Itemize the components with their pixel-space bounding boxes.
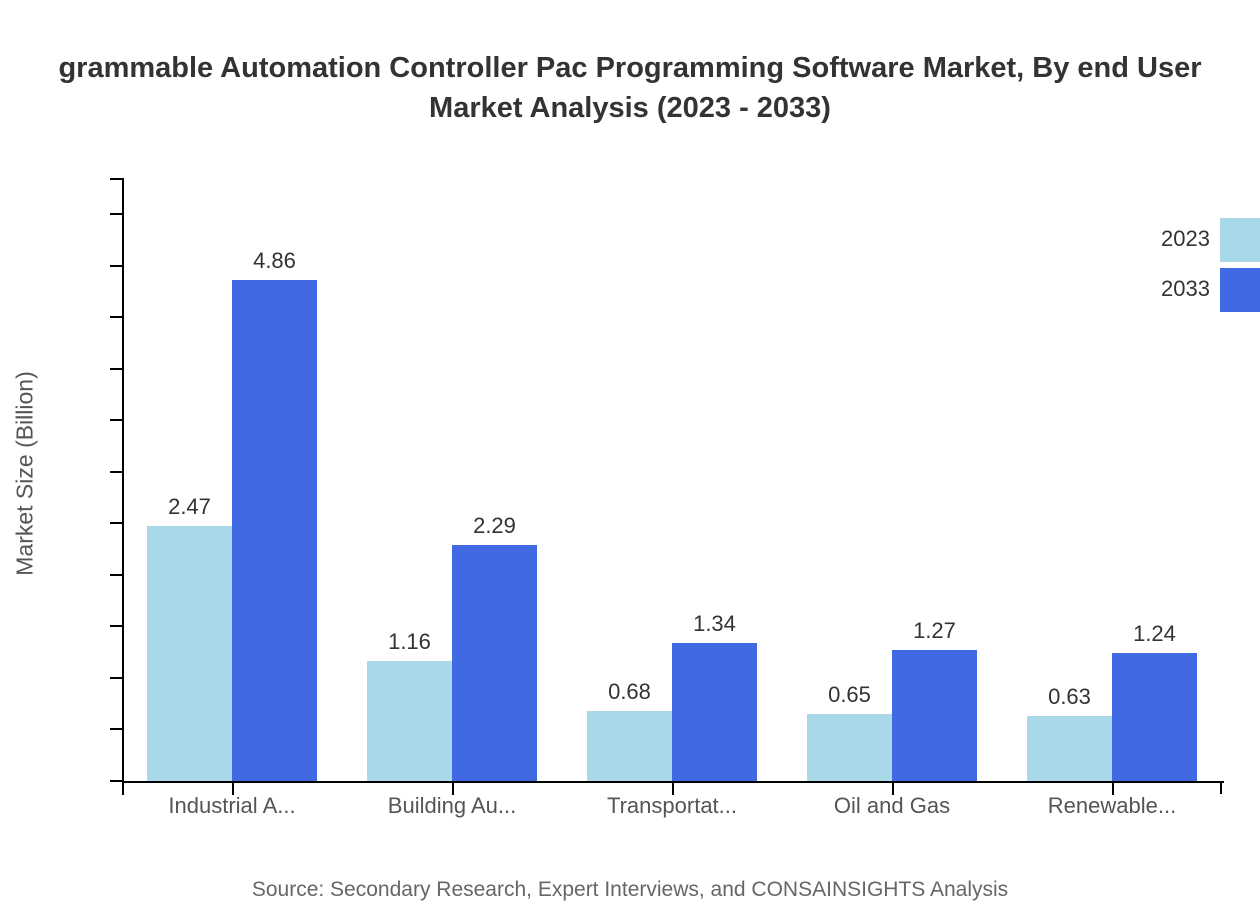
chart-title-line-1: grammable Automation Controller Pac Prog…: [58, 52, 1201, 84]
bar-2023-0[interactable]: [147, 526, 232, 781]
legend-label: 2023: [1161, 226, 1210, 252]
bar-2023-2[interactable]: [587, 711, 672, 781]
bar-value-label: 1.34: [672, 611, 757, 637]
chart-title: grammable Automation Controller Pac Prog…: [0, 48, 1260, 128]
bar-value-label: 4.86: [232, 248, 317, 274]
chart-title-line-2: Market Analysis (2023 - 2033): [0, 88, 1260, 128]
bar-value-label: 2.29: [452, 513, 537, 539]
bar-value-label: 0.68: [587, 679, 672, 705]
y-tick-mark: [110, 213, 122, 215]
bar-value-label: 1.24: [1112, 621, 1197, 647]
y-axis-title: Market Size (Billion): [12, 244, 39, 704]
legend-item[interactable]: 2023: [1135, 218, 1260, 268]
x-axis-category-label: Renewable...: [1002, 793, 1222, 819]
y-tick-mark: [110, 522, 122, 524]
x-axis-category-label: Industrial A...: [122, 793, 342, 819]
y-tick-mark: [110, 728, 122, 730]
legend-item[interactable]: 2033: [1135, 268, 1260, 318]
y-tick-mark: [110, 471, 122, 473]
bar-value-label: 1.16: [367, 629, 452, 655]
bar-value-label: 0.65: [807, 682, 892, 708]
y-tick-mark: [110, 265, 122, 267]
legend-swatch-2033: [1220, 268, 1260, 312]
y-tick-mark: [110, 316, 122, 318]
y-tick-mark: [110, 677, 122, 679]
x-axis-category-label: Transportat...: [562, 793, 782, 819]
bar-value-label: 1.27: [892, 618, 977, 644]
bar-value-label: 0.63: [1027, 684, 1112, 710]
bar-2033-1[interactable]: [452, 545, 537, 781]
y-tick-mark: [110, 780, 122, 782]
bar-2023-4[interactable]: [1027, 716, 1112, 781]
legend-swatch-2023: [1220, 218, 1260, 262]
bar-2023-1[interactable]: [367, 661, 452, 781]
y-tick-mark: [110, 419, 122, 421]
bar-2033-4[interactable]: [1112, 653, 1197, 781]
y-tick-mark: [110, 368, 122, 370]
y-tick-mark: [110, 625, 122, 627]
bar-2033-2[interactable]: [672, 643, 757, 781]
source-note: Source: Secondary Research, Expert Inter…: [0, 878, 1260, 902]
bar-2033-0[interactable]: [232, 280, 317, 781]
x-axis-category-label: Oil and Gas: [782, 793, 1002, 819]
x-axis-category-label: Building Au...: [342, 793, 562, 819]
legend: 20232033: [1135, 218, 1260, 318]
y-tick-mark: [110, 574, 122, 576]
bar-value-label: 2.47: [147, 494, 232, 520]
chart-container: grammable Automation Controller Pac Prog…: [0, 0, 1260, 920]
bar-2033-3[interactable]: [892, 650, 977, 781]
bar-2023-3[interactable]: [807, 714, 892, 781]
legend-label: 2033: [1161, 276, 1210, 302]
